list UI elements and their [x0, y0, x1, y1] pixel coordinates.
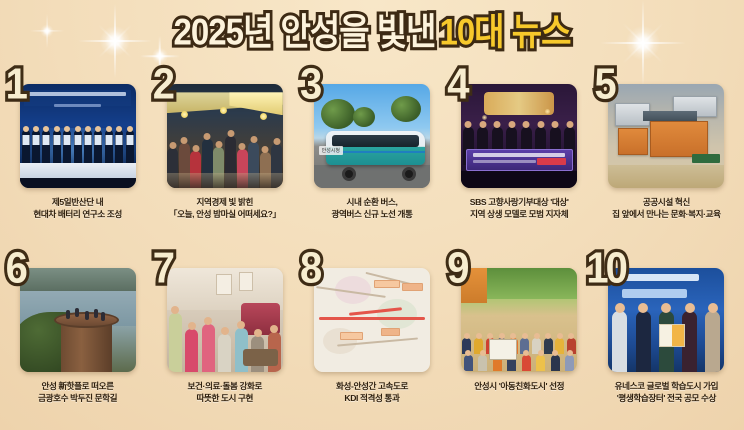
news-photo-10[interactable] [608, 268, 724, 372]
news-photo-7[interactable] [167, 268, 283, 372]
news-photo-1[interactable] [20, 84, 136, 188]
news-caption-6: 안성 新핫플로 떠오른 금광호수 박두진 문학길 [7, 380, 149, 405]
caption-line: 따뜻한 도시 구현 [154, 392, 296, 404]
caption-line: 금광호수 박두진 문학길 [7, 392, 149, 404]
news-item-6[interactable]: 6 안성 新핫플로 떠오른 금광호수 박두진 문학길 [4, 246, 151, 430]
news-card-9[interactable]: 9 [461, 268, 577, 372]
page-header: 2025년 안성을 빛낸10대 뉴스 [0, 0, 744, 62]
news-card-6[interactable]: 6 [20, 268, 136, 372]
rank-number-4: 4 [447, 62, 466, 106]
rank-number-6: 6 [6, 246, 25, 290]
news-item-7[interactable]: 7 [151, 246, 298, 430]
news-item-3[interactable]: 3 안성시청 시내 순환 버스, 광역버스 신규 노선 개통 [298, 62, 445, 246]
news-caption-9: 안성시 '아동친화도시' 선정 [448, 380, 590, 392]
news-card-2[interactable]: 2 [167, 84, 283, 188]
title-segment-cream: 2025년 안성을 빛낸 [174, 13, 436, 50]
news-item-8[interactable]: 8 화성-안성간 고속도로 KDI 적격 [298, 246, 445, 430]
news-caption-7: 보건·의료·돌봄 강화로 따뜻한 도시 구현 [154, 380, 296, 405]
caption-line: 광역버스 신규 노선 개통 [301, 208, 443, 220]
news-caption-10: 유네스코 글로벌 학습도시 가입 '평생학습장터' 전국 공모 수상 [595, 380, 737, 405]
infographic-page: 2025년 안성을 빛낸10대 뉴스 1 제5일반산단 내 현대차 배터리 연구… [0, 0, 744, 430]
bus-stop-sign: 안성시청 [319, 146, 343, 155]
news-item-10[interactable]: 10 유네스코 글로벌 학습도시 가입 '평생학습장터' 전국 공모 수상 [593, 246, 740, 430]
title-segment-gold: 10대 뉴스 [439, 13, 570, 50]
caption-line: 집 앞에서 만나는 문화·복지·교육 [595, 208, 737, 220]
news-card-10[interactable]: 10 [608, 268, 724, 372]
news-card-1[interactable]: 1 [20, 84, 136, 188]
caption-line: KDI 적격성 통과 [301, 392, 443, 404]
news-photo-4[interactable] [461, 84, 577, 188]
caption-line: 현대차 배터리 연구소 조성 [7, 208, 149, 220]
news-caption-3: 시내 순환 버스, 광역버스 신규 노선 개통 [301, 196, 443, 221]
news-item-5[interactable]: 5 공공시설 혁신 집 앞에서 만나는 문화·복지·교육 [593, 62, 740, 246]
page-title: 2025년 안성을 빛낸10대 뉴스 [174, 13, 571, 50]
caption-line: 제5일반산단 내 [7, 196, 149, 208]
rank-number-10: 10 [586, 246, 625, 290]
news-photo-9[interactable] [461, 268, 577, 372]
news-caption-1: 제5일반산단 내 현대차 배터리 연구소 조성 [7, 196, 149, 221]
news-caption-2: 지역경제 빛 밝힌 「오늘, 안성 밤마실 어떠세요?」 [154, 196, 296, 221]
news-card-5[interactable]: 5 [608, 84, 724, 188]
caption-line: 보건·의료·돌봄 강화로 [154, 380, 296, 392]
caption-line: SBS 고향사랑기부대상 '대상' [448, 196, 590, 208]
news-caption-8: 화성-안성간 고속도로 KDI 적격성 통과 [301, 380, 443, 405]
rank-number-5: 5 [594, 62, 613, 106]
rank-number-7: 7 [153, 246, 172, 290]
caption-line: 지역경제 빛 밝힌 [154, 196, 296, 208]
rank-number-2: 2 [153, 62, 172, 106]
rank-number-8: 8 [300, 246, 319, 290]
caption-line: 화성-안성간 고속도로 [301, 380, 443, 392]
caption-line: 공공시설 혁신 [595, 196, 737, 208]
rank-number-3: 3 [300, 62, 319, 106]
caption-line: '평생학습장터' 전국 공모 수상 [595, 392, 737, 404]
caption-line: 안성시 '아동친화도시' 선정 [448, 380, 590, 392]
news-photo-5[interactable] [608, 84, 724, 188]
news-grid: 1 제5일반산단 내 현대차 배터리 연구소 조성 2 [0, 62, 744, 430]
rank-number-1: 1 [6, 62, 25, 106]
caption-line: 「오늘, 안성 밤마실 어떠세요?」 [154, 208, 296, 220]
news-photo-6[interactable] [20, 268, 136, 372]
news-photo-2[interactable] [167, 84, 283, 188]
news-card-8[interactable]: 8 [314, 268, 430, 372]
news-photo-3[interactable]: 안성시청 [314, 84, 430, 188]
caption-line: 유네스코 글로벌 학습도시 가입 [595, 380, 737, 392]
news-caption-4: SBS 고향사랑기부대상 '대상' 지역 상생 모델로 모범 지자체 [448, 196, 590, 221]
news-item-4[interactable]: 4 SBS 고향사랑기부대상 '대상' 지역 상생 모델로 모범 지자체 [446, 62, 593, 246]
news-photo-8[interactable] [314, 268, 430, 372]
news-item-9[interactable]: 9 [446, 246, 593, 430]
news-card-3[interactable]: 3 안성시청 [314, 84, 430, 188]
caption-line: 지역 상생 모델로 모범 지자체 [448, 208, 590, 220]
news-card-4[interactable]: 4 [461, 84, 577, 188]
news-card-7[interactable]: 7 [167, 268, 283, 372]
caption-line: 안성 新핫플로 떠오른 [7, 380, 149, 392]
news-item-1[interactable]: 1 제5일반산단 내 현대차 배터리 연구소 조성 [4, 62, 151, 246]
rank-number-9: 9 [447, 246, 466, 290]
caption-line: 시내 순환 버스, [301, 196, 443, 208]
news-caption-5: 공공시설 혁신 집 앞에서 만나는 문화·복지·교육 [595, 196, 737, 221]
news-item-2[interactable]: 2 [151, 62, 298, 246]
